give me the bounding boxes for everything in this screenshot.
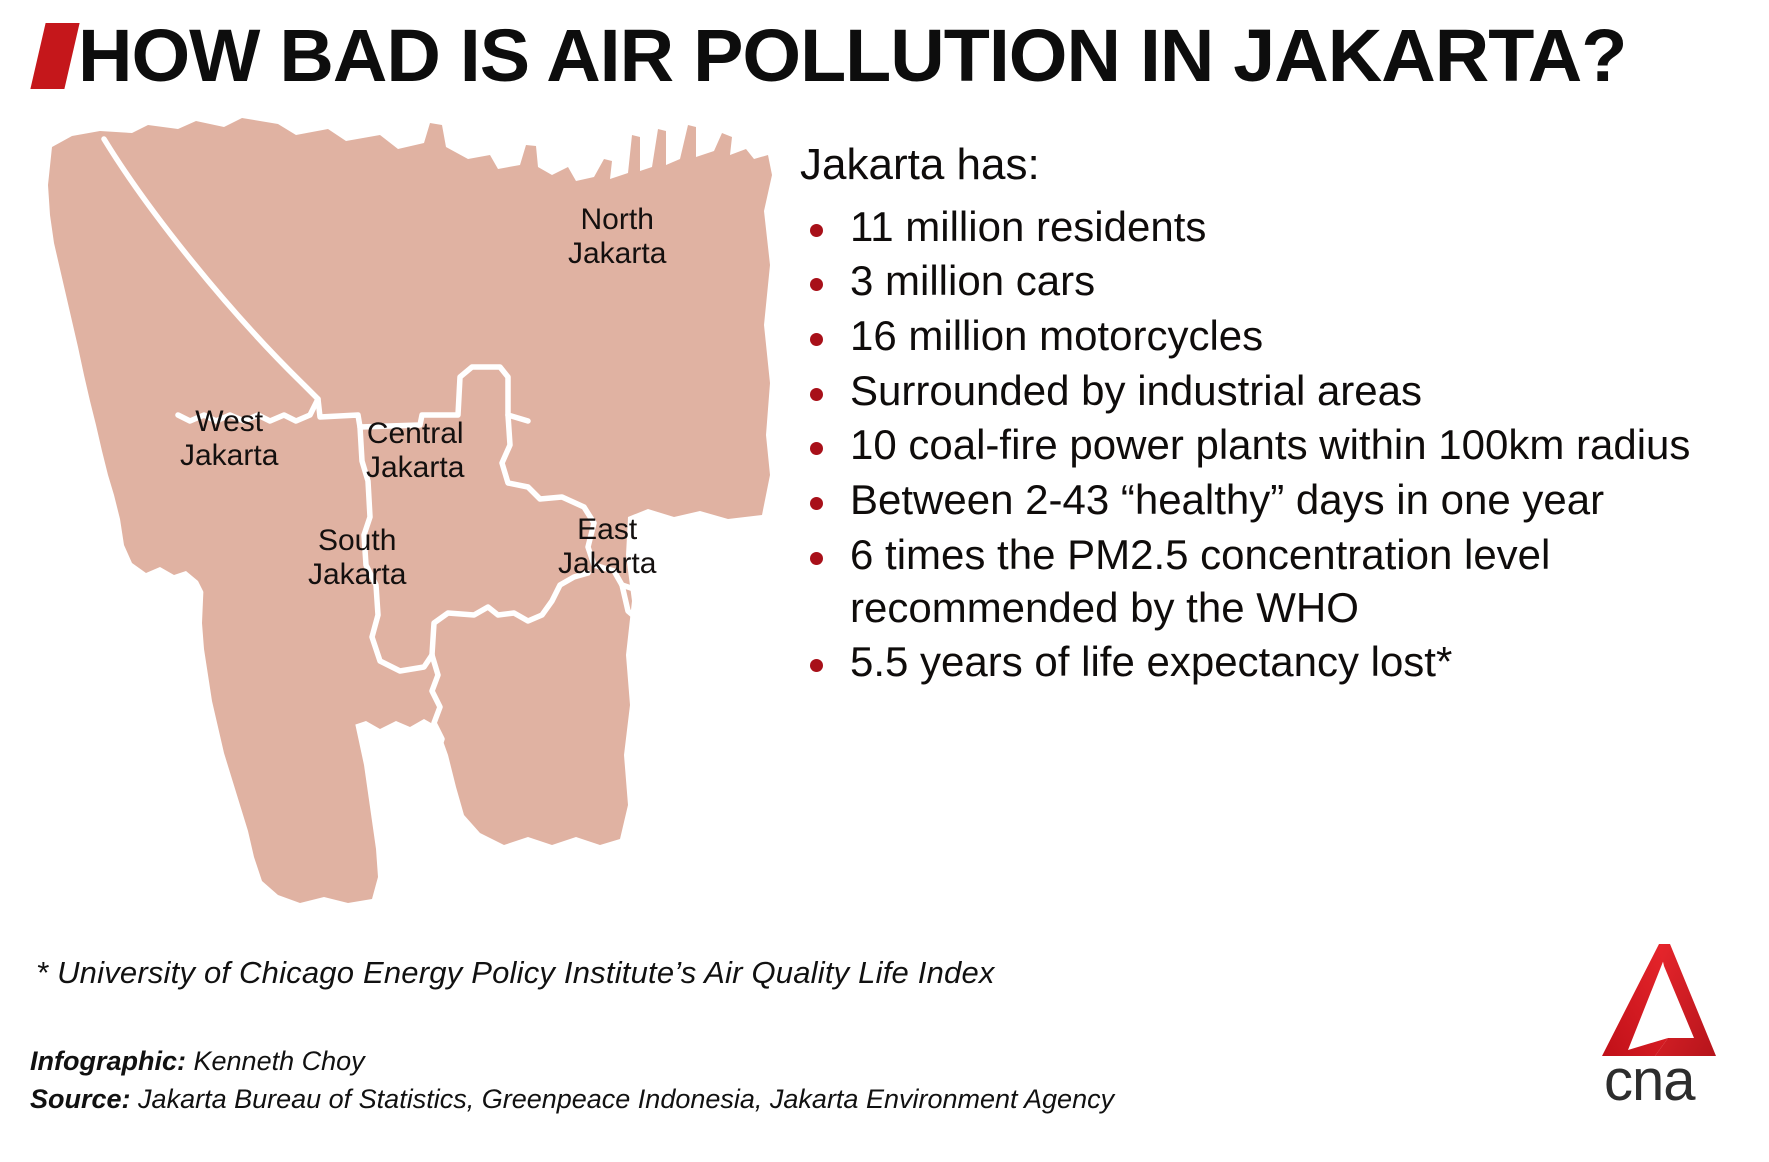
footnote: * University of Chicago Energy Policy In… [36, 955, 995, 991]
credit-infographic: Infographic: Kenneth Choy [30, 1042, 1114, 1080]
list-item: 16 million motorcycles [800, 310, 1750, 363]
map-label-east-line2: Jakarta [558, 547, 656, 580]
list-item: 5.5 years of life expectancy lost* [800, 636, 1750, 689]
facts-list: 11 million residents 3 million cars 16 m… [800, 201, 1750, 689]
map-label-east-line1: East [577, 513, 637, 546]
cna-mark-left [1602, 944, 1670, 1056]
map-label-central-line2: Jakarta [366, 451, 464, 484]
page-title: HOW BAD IS AIR POLLUTION IN JAKARTA? [38, 8, 1738, 104]
credit-infographic-label: Infographic: [30, 1046, 186, 1076]
cna-logo-svg: cna [1598, 938, 1744, 1106]
jakarta-map: North Jakarta West Jakarta Central Jakar… [28, 115, 788, 905]
map-label-north-line2: Jakarta [568, 237, 666, 270]
credit-source: Source: Jakarta Bureau of Statistics, Gr… [30, 1080, 1114, 1118]
infographic-page: HOW BAD IS AIR POLLUTION IN JAKARTA? [0, 0, 1769, 1162]
list-item: Between 2-43 “healthy” days in one year [800, 474, 1750, 527]
cna-wordmark: cna [1604, 1048, 1696, 1106]
map-label-west: West Jakarta [180, 405, 278, 472]
credit-source-label: Source: [30, 1084, 131, 1114]
list-item: 6 times the PM2.5 concentration level re… [800, 529, 1750, 634]
list-item: 3 million cars [800, 255, 1750, 308]
map-label-south-line1: South [318, 524, 396, 557]
list-item: Surrounded by industrial areas [800, 365, 1750, 418]
cna-logo: cna [1598, 938, 1744, 1106]
map-label-east: East Jakarta [558, 513, 656, 580]
map-label-north-line1: North [581, 203, 654, 236]
map-label-west-line2: Jakarta [180, 439, 278, 472]
list-item: 10 coal-fire power plants within 100km r… [800, 419, 1750, 472]
page-title-text: HOW BAD IS AIR POLLUTION IN JAKARTA? [78, 19, 1626, 93]
map-label-south-line2: Jakarta [308, 558, 406, 591]
credit-infographic-value: Kenneth Choy [194, 1046, 365, 1076]
map-label-south: South Jakarta [308, 524, 406, 591]
credits: Infographic: Kenneth Choy Source: Jakart… [30, 1042, 1114, 1119]
credit-source-value: Jakarta Bureau of Statistics, Greenpeace… [138, 1084, 1114, 1114]
list-item: 11 million residents [800, 201, 1750, 254]
facts-panel: Jakarta has: 11 million residents 3 mill… [800, 140, 1750, 691]
map-label-west-line1: West [195, 405, 263, 438]
red-slash-icon [30, 23, 79, 89]
jakarta-map-svg [28, 115, 788, 905]
map-label-central-line1: Central [367, 417, 464, 450]
map-label-north: North Jakarta [568, 203, 666, 270]
facts-heading: Jakarta has: [800, 140, 1750, 191]
map-label-central: Central Jakarta [366, 417, 464, 484]
